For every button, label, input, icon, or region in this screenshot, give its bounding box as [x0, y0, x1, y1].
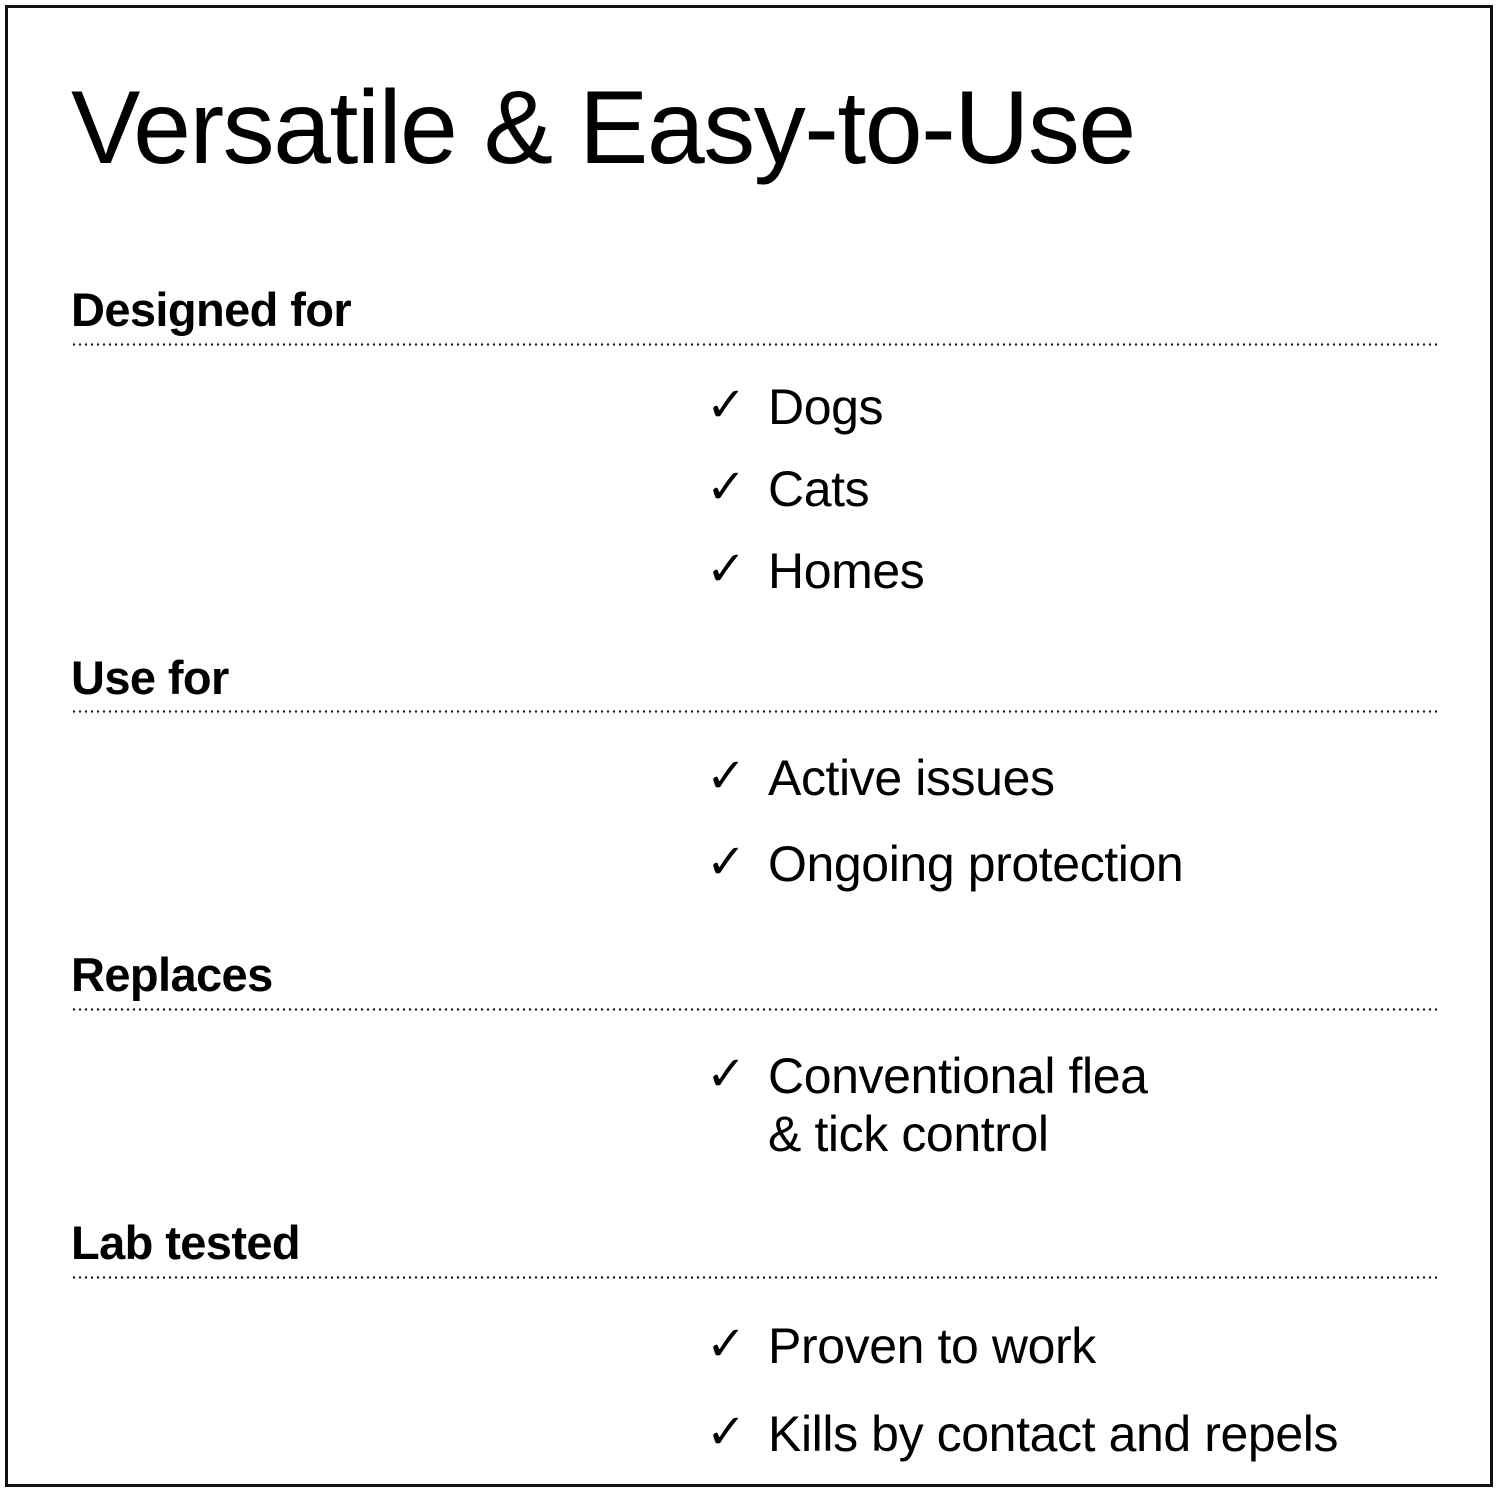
list-item: ✓ Cats [706, 460, 1440, 518]
list-item: ✓ Active issues [706, 749, 1440, 807]
check-icon: ✓ [706, 378, 768, 434]
section-lab-tested: Lab tested ✓ Proven to work ✓ Kills by c… [71, 1217, 1440, 1463]
list-item: ✓ Conventional flea & tick control [706, 1047, 1440, 1163]
section-header: Use for [71, 652, 1440, 711]
feature-sections: Designed for ✓ Dogs ✓ Cats ✓ Homes Use f… [71, 284, 1440, 1487]
section-header: Replaces [71, 949, 1440, 1008]
list-item-label: Cats [768, 460, 1440, 518]
list-item-label: Proven to work [768, 1317, 1440, 1375]
section-header: Designed for [71, 284, 1440, 343]
page-title: Versatile & Easy-to-Use [71, 70, 1440, 186]
check-icon: ✓ [706, 542, 768, 598]
feature-card: Versatile & Easy-to-Use Designed for ✓ D… [5, 5, 1493, 1487]
list-item-label: Ongoing protection [768, 835, 1440, 893]
list-item-label: Homes [768, 542, 1440, 600]
section-replaces: Replaces ✓ Conventional flea & tick cont… [71, 949, 1440, 1163]
section-header: Lab tested [71, 1217, 1440, 1276]
list-item: ✓ Ongoing protection [706, 835, 1440, 893]
list-item-label: Active issues [768, 749, 1440, 807]
list-item: ✓ Kills by contact and repels [706, 1405, 1440, 1463]
check-icon: ✓ [706, 1317, 768, 1373]
section-items: ✓ Active issues ✓ Ongoing protection [71, 713, 1440, 893]
list-item: ✓ Dogs [706, 378, 1440, 436]
section-items: ✓ Dogs ✓ Cats ✓ Homes [71, 346, 1440, 600]
check-icon: ✓ [706, 835, 768, 891]
check-icon: ✓ [706, 1405, 768, 1461]
list-item-label: Kills by contact and repels [768, 1405, 1440, 1463]
list-item: ✓ Proven to work [706, 1317, 1440, 1375]
check-icon: ✓ [706, 1047, 768, 1103]
list-item: ✓ Homes [706, 542, 1440, 600]
section-designed-for: Designed for ✓ Dogs ✓ Cats ✓ Homes [71, 284, 1440, 600]
list-item-label: Conventional flea & tick control [768, 1047, 1440, 1163]
check-icon: ✓ [706, 749, 768, 805]
list-item-label: Dogs [768, 378, 1440, 436]
check-icon: ✓ [706, 460, 768, 516]
section-use-for: Use for ✓ Active issues ✓ Ongoing protec… [71, 652, 1440, 894]
section-items: ✓ Proven to work ✓ Kills by contact and … [71, 1279, 1440, 1463]
section-items: ✓ Conventional flea & tick control [71, 1011, 1440, 1163]
